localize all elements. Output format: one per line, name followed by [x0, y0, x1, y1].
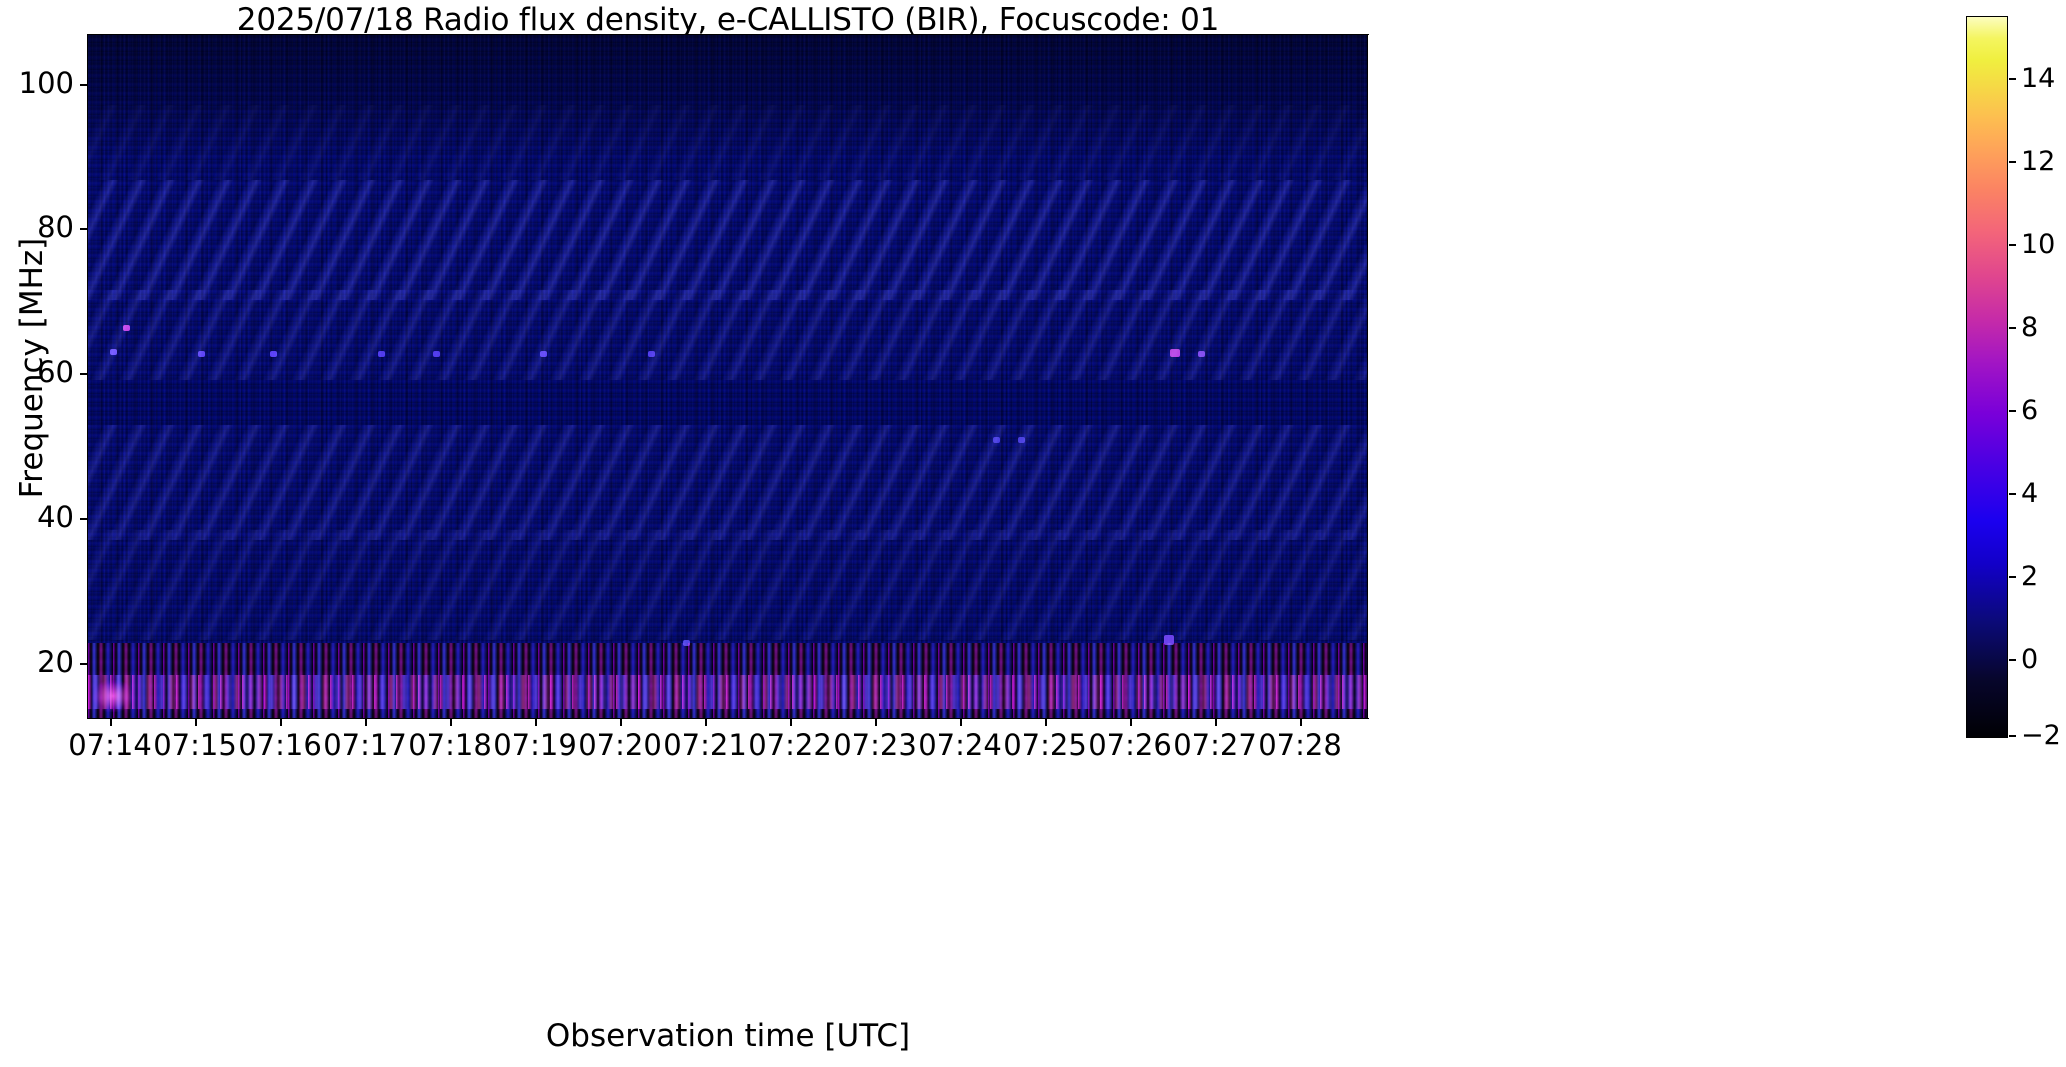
colorbar-tick-mark: [2009, 161, 2016, 163]
chart-title: 2025/07/18 Radio flux density, e-CALLIST…: [88, 2, 1368, 38]
y-tick-mark: [80, 518, 87, 520]
bright-pixel-blip: [198, 351, 205, 357]
axis-spine-left: [87, 35, 88, 719]
colorbar-tick-mark: [2009, 659, 2016, 661]
spectrogram-scanlines: [88, 35, 1367, 718]
colorbar-gradient: [1966, 16, 2008, 738]
colorbar-tick-label: 8: [2021, 314, 2038, 341]
colorbar-tick-label: 6: [2021, 397, 2038, 424]
x-tick-mark: [365, 719, 367, 726]
x-tick-mark: [1130, 719, 1132, 726]
x-tick-label: 07:15: [153, 731, 237, 760]
colorbar-tick-mark: [2009, 410, 2016, 412]
x-tick-mark: [1215, 719, 1217, 726]
x-tick-label: 07:25: [1003, 731, 1087, 760]
bright-pixel-blip: [648, 351, 655, 357]
x-tick-mark: [960, 719, 962, 726]
bright-pixel-blip: [1018, 437, 1025, 443]
bright-pixel-blip: [270, 351, 277, 357]
x-tick-label: 07:21: [663, 731, 747, 760]
x-tick-mark: [110, 719, 112, 726]
rfi-hotspot: [93, 680, 133, 712]
bright-pixel-blip: [683, 640, 690, 646]
x-tick-label: 07:20: [578, 731, 662, 760]
colorbar-tick-mark: [2009, 735, 2016, 737]
bright-pixel-blip: [993, 437, 1000, 443]
x-tick-label: 07:26: [1088, 731, 1172, 760]
axis-spine-top: [87, 34, 1369, 35]
y-tick-mark: [80, 663, 87, 665]
bright-pixel-blip: [123, 325, 130, 331]
rfi-core: [88, 675, 1367, 709]
x-tick-label: 07:24: [918, 731, 1002, 760]
x-tick-mark: [450, 719, 452, 726]
x-tick-mark: [535, 719, 537, 726]
x-tick-mark: [875, 719, 877, 726]
colorbar-tick-label: 0: [2021, 646, 2038, 673]
colorbar-tick-label: 4: [2021, 480, 2038, 507]
x-tick-label: 07:27: [1173, 731, 1257, 760]
x-axis-label: Observation time [UTC]: [88, 1018, 1368, 1054]
y-tick-mark: [80, 84, 87, 86]
axis-spine-right: [1367, 35, 1368, 719]
bright-pixel-blip: [110, 349, 117, 355]
x-tick-mark: [1045, 719, 1047, 726]
y-tick-mark: [80, 228, 87, 230]
x-tick-mark: [705, 719, 707, 726]
x-tick-mark: [620, 719, 622, 726]
x-tick-mark: [1300, 719, 1302, 726]
colorbar[interactable]: 14 12 10 8 6 4 2 0 −2: [1966, 16, 2008, 738]
colorbar-tick-mark: [2009, 244, 2016, 246]
y-tick-mark: [80, 373, 87, 375]
spectrogram-image[interactable]: [88, 35, 1367, 718]
colorbar-tick-mark: [2009, 576, 2016, 578]
figure-canvas: 2025/07/18 Radio flux density, e-CALLIST…: [0, 0, 2066, 1067]
x-tick-label: 07:18: [408, 731, 492, 760]
bright-pixel-blip: [433, 351, 440, 357]
y-axis-label: Frequency [MHz]: [14, 68, 50, 668]
bright-pixel-blip: [1164, 635, 1174, 645]
x-tick-mark: [280, 719, 282, 726]
colorbar-tick-label: 14: [2021, 65, 2055, 92]
colorbar-tick-label: 10: [2021, 231, 2055, 258]
x-tick-label: 07:17: [323, 731, 407, 760]
x-tick-label: 07:19: [493, 731, 577, 760]
bright-pixel-blip: [1170, 349, 1180, 357]
bright-pixel-blip: [378, 351, 385, 357]
colorbar-tick-label: −2: [2021, 722, 2061, 749]
bright-pixel-blip: [1198, 351, 1205, 357]
x-tick-label: 07:22: [748, 731, 832, 760]
colorbar-tick-mark: [2009, 327, 2016, 329]
colorbar-tick-mark: [2009, 78, 2016, 80]
x-tick-mark: [790, 719, 792, 726]
x-tick-label: 07:23: [833, 731, 917, 760]
x-tick-label: 07:16: [238, 731, 322, 760]
x-tick-label: 07:14: [68, 731, 152, 760]
x-tick-mark: [195, 719, 197, 726]
bright-pixel-blip: [540, 351, 547, 357]
colorbar-tick-mark: [2009, 493, 2016, 495]
colorbar-tick-label: 2: [2021, 563, 2038, 590]
colorbar-tick-label: 12: [2021, 148, 2055, 175]
x-tick-label: 07:28: [1258, 731, 1342, 760]
